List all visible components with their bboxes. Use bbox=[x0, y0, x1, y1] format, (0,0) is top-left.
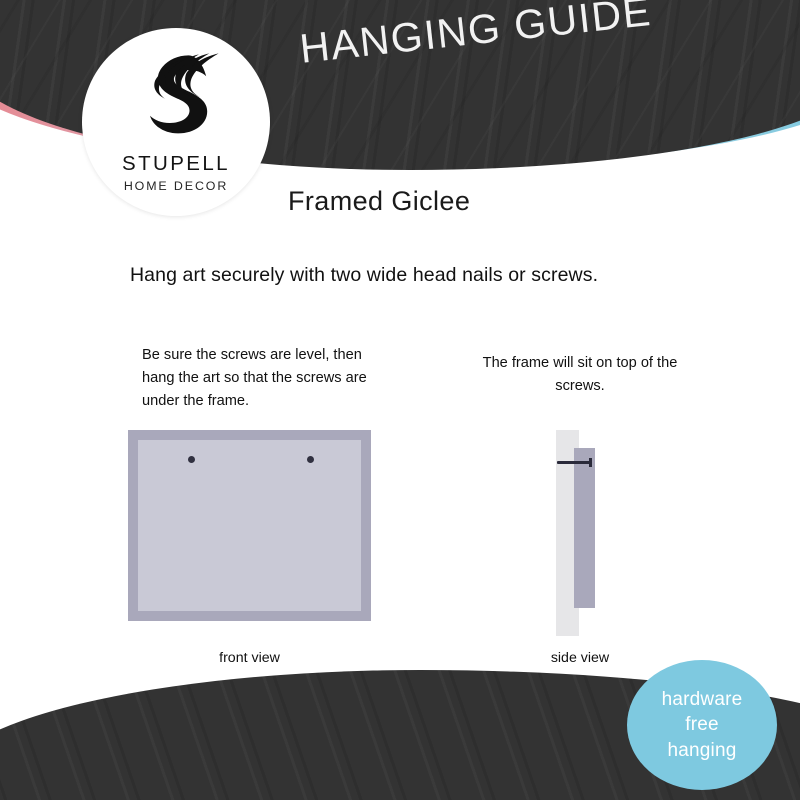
nail-head bbox=[589, 458, 592, 467]
front-view-note: Be sure the screws are level, then hang … bbox=[142, 344, 387, 413]
screw-dot-right-icon bbox=[307, 456, 314, 463]
hardware-free-hanging-badge: hardware free hanging bbox=[627, 660, 777, 790]
nail-icon bbox=[557, 458, 596, 467]
brand-name: STUPELL bbox=[122, 152, 230, 176]
front-view-mat bbox=[138, 440, 361, 611]
brand-tagline: HOME DECOR bbox=[124, 179, 228, 193]
badge-text: hardware free hanging bbox=[662, 687, 743, 762]
badge-line-1: hardware bbox=[662, 689, 743, 710]
side-view-note: The frame will sit on top of the screws. bbox=[470, 352, 690, 398]
brand-logo-badge: STUPELL HOME DECOR bbox=[82, 28, 270, 216]
side-view-frame bbox=[574, 448, 595, 608]
badge-line-3: hanging bbox=[667, 740, 736, 761]
hanging-guide-page: HANGING GUIDE STUPELL HOME DECOR Framed … bbox=[0, 0, 800, 800]
badge-line-2: free bbox=[685, 714, 719, 735]
stupell-s-swoosh-logo-icon bbox=[124, 45, 228, 149]
product-subtitle: Framed Giclee bbox=[288, 186, 470, 217]
screw-dot-left-icon bbox=[188, 456, 195, 463]
front-view-diagram bbox=[128, 430, 371, 621]
primary-instruction: Hang art securely with two wide head nai… bbox=[130, 264, 690, 287]
nail-shaft bbox=[557, 461, 591, 464]
